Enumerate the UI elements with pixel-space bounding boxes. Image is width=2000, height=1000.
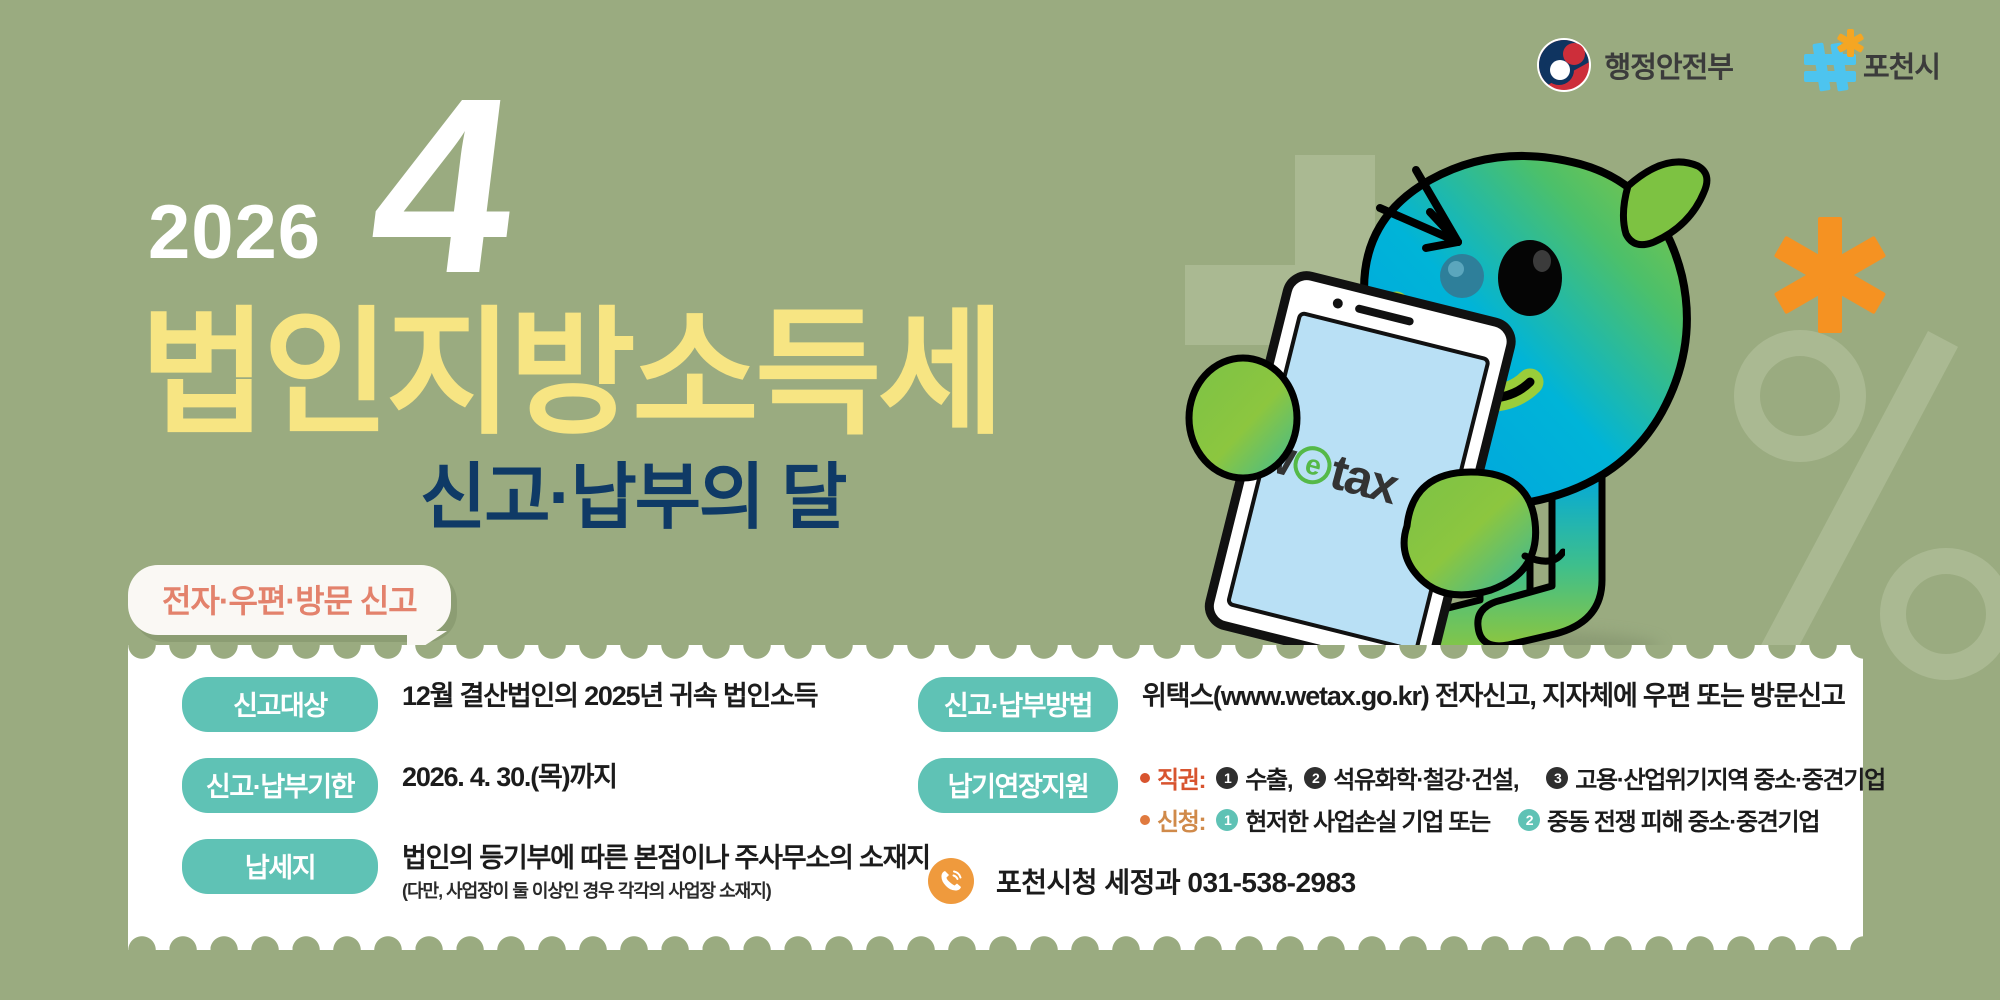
- bullet-dot-icon: [1140, 815, 1150, 825]
- value-tax-place-note: (다만, 사업장이 둘 이상인 경우 각각의 사업장 소재지): [402, 879, 930, 905]
- panel-scallop-bottom: [128, 932, 1863, 950]
- extension-item-text: 중동 전쟁 피해 중소·중견기업: [1547, 802, 1819, 837]
- tax-notice-banner: 행정안전부 포천시 2026 4 법인지방소득세 신고·납부의 달 전자·우편·…: [0, 0, 2000, 1000]
- value-filing-deadline: 2026. 4. 30.(목)까지: [378, 758, 617, 796]
- value-filing-method: 위택스(www.wetax.go.kr) 전자신고, 지자체에 우편 또는 방문…: [1118, 677, 1845, 715]
- ministry-logo: 행정안전부: [1537, 38, 1733, 92]
- panel-scallop-top: [128, 645, 1863, 663]
- value-filing-target: 12월 결산법인의 2025년 귀속 법인소득: [378, 677, 817, 715]
- filing-methods-tag: 전자·우편·방문 신고: [128, 565, 451, 635]
- mascot-hand-lower: [1395, 460, 1565, 610]
- taegeuk-icon: [1537, 38, 1591, 92]
- ministry-logo-label: 행정안전부: [1605, 44, 1733, 86]
- logo-bar: 행정안전부 포천시: [1537, 38, 1940, 92]
- bullet-dot-icon: [1140, 773, 1150, 783]
- panel-right-column: 신고·납부방법 위택스(www.wetax.go.kr) 전자신고, 지자체에 …: [898, 671, 1885, 926]
- city-logo: 포천시: [1803, 39, 1940, 91]
- hashtag-icon: [1803, 39, 1857, 91]
- info-row: 신고·납부방법 위택스(www.wetax.go.kr) 전자신고, 지자체에 …: [918, 677, 1885, 732]
- pill-deadline-extension: 납기연장지원: [918, 758, 1118, 813]
- contact-row: 포천시청 세정과 031-538-2983: [918, 858, 1885, 904]
- filing-methods-tag-label: 전자·우편·방문 신고: [162, 576, 417, 622]
- extension-line-authority: 직권: 1 수출, 2 석유화학·철강·건설, 3 고용·산업위기지역 중소·중…: [1140, 760, 1885, 795]
- phone-icon: [928, 858, 974, 904]
- page-subtitle: 신고·납부의 달: [420, 462, 845, 534]
- extension-line-application: 신청: 1 현저한 사업손실 기업 또는 2 중동 전쟁 피해 중소·중견기업: [1140, 802, 1885, 837]
- number-badge: 2: [1304, 767, 1326, 789]
- number-badge: 1: [1216, 809, 1238, 831]
- pill-filing-deadline: 신고·납부기한: [182, 758, 378, 813]
- contact-text: 포천시청 세정과 031-538-2983: [996, 861, 1356, 901]
- page-title: 법인지방소득세: [140, 305, 1001, 443]
- extension-item-text: 수출,: [1245, 760, 1292, 795]
- number-badge: 1: [1216, 767, 1238, 789]
- mascot-hand-upper: [1175, 350, 1315, 490]
- month-number: 4: [362, 80, 519, 293]
- value-tax-place-main: 법인의 등기부에 따른 본점이나 주사무소의 소재지: [402, 843, 930, 873]
- extension-kind-application: 신청:: [1157, 802, 1205, 837]
- extension-item-text: 현저한 사업손실 기업 또는: [1245, 802, 1490, 837]
- number-badge: 3: [1546, 767, 1568, 789]
- value-tax-place: 법인의 등기부에 따른 본점이나 주사무소의 소재지 (다만, 사업장이 둘 이…: [378, 839, 930, 905]
- extension-item-text: 석유화학·철강·건설,: [1333, 760, 1518, 795]
- info-row: 신고대상 12월 결산법인의 2025년 귀속 법인소득: [182, 677, 898, 732]
- pill-filing-target: 신고대상: [182, 677, 378, 732]
- extension-item-text: 고용·산업위기지역 중소·중견기업: [1575, 760, 1885, 795]
- pill-filing-method: 신고·납부방법: [918, 677, 1118, 732]
- asterisk-accent-icon: [1835, 28, 1865, 58]
- info-row: 신고·납부기한 2026. 4. 30.(목)까지: [182, 758, 898, 813]
- info-row-extension: 납기연장지원 직권: 1 수출, 2 석유화학·철강·건설, 3: [918, 758, 1885, 844]
- info-panel: 신고대상 12월 결산법인의 2025년 귀속 법인소득 신고·납부기한 202…: [128, 645, 1863, 950]
- year-label: 2026: [148, 195, 321, 271]
- number-badge: 2: [1518, 809, 1540, 831]
- city-logo-label: 포천시: [1863, 44, 1940, 86]
- extension-kind-authority: 직권:: [1157, 760, 1205, 795]
- pill-tax-place: 납세지: [182, 839, 378, 894]
- info-row: 납세지 법인의 등기부에 따른 본점이나 주사무소의 소재지 (다만, 사업장이…: [182, 839, 898, 905]
- panel-left-column: 신고대상 12월 결산법인의 2025년 귀속 법인소득 신고·납부기한 202…: [158, 671, 898, 926]
